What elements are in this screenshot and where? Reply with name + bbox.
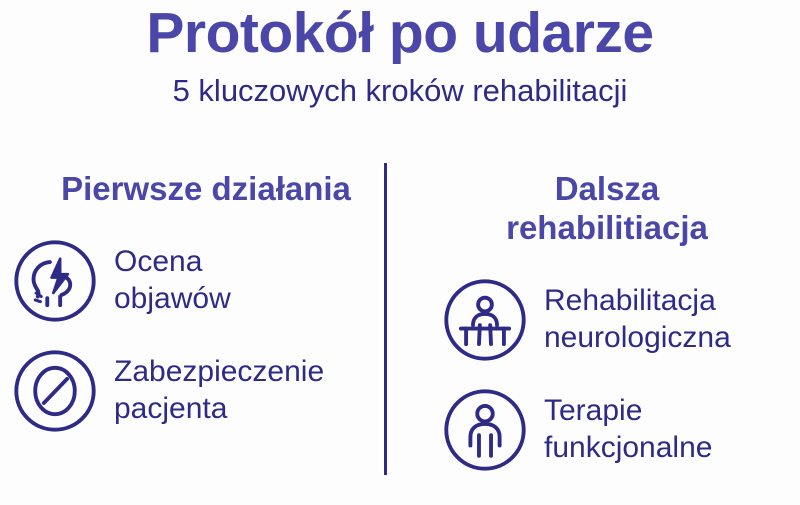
list-item-label: Ocena objawów (114, 244, 231, 317)
header: Protokół po udarze 5 kluczowych kroków r… (0, 0, 800, 109)
column-further-rehab: Dalsza rehabilitiacja (400, 152, 800, 505)
page-title: Protokół po udarze (0, 4, 800, 63)
head-lightning-icon (12, 238, 98, 324)
list-item[interactable]: Terapie funkcjonalne (442, 384, 800, 476)
item-list-left: Ocena objawów Zabezpieczenie pacjenta (12, 235, 400, 437)
list-item-label: Zabezpieczenie pacjenta (114, 354, 324, 427)
column-heading-left: Pierwsze działania (12, 170, 400, 209)
column-heading-right: Dalsza rehabilitiacja (442, 170, 800, 248)
list-item[interactable]: Zabezpieczenie pacjenta (12, 345, 400, 437)
list-item-label: Terapie funkcjonalne (544, 393, 712, 466)
infographic-root: Protokół po udarze 5 kluczowych kroków r… (0, 0, 800, 505)
parallel-bars-person-icon (442, 277, 528, 363)
standing-person-icon (442, 387, 528, 473)
page-subtitle: 5 kluczowych kroków rehabilitacji (0, 72, 800, 109)
columns-container: Pierwsze działania (0, 152, 800, 505)
shield-oval-icon (12, 348, 98, 434)
list-item-label: Rehabilitacja neurologiczna (544, 283, 731, 356)
list-item[interactable]: Ocena objawów (12, 235, 400, 327)
item-list-right: Rehabilitacja neurologiczna Terap (442, 274, 800, 476)
list-item[interactable]: Rehabilitacja neurologiczna (442, 274, 800, 366)
column-first-actions: Pierwsze działania (0, 152, 400, 505)
